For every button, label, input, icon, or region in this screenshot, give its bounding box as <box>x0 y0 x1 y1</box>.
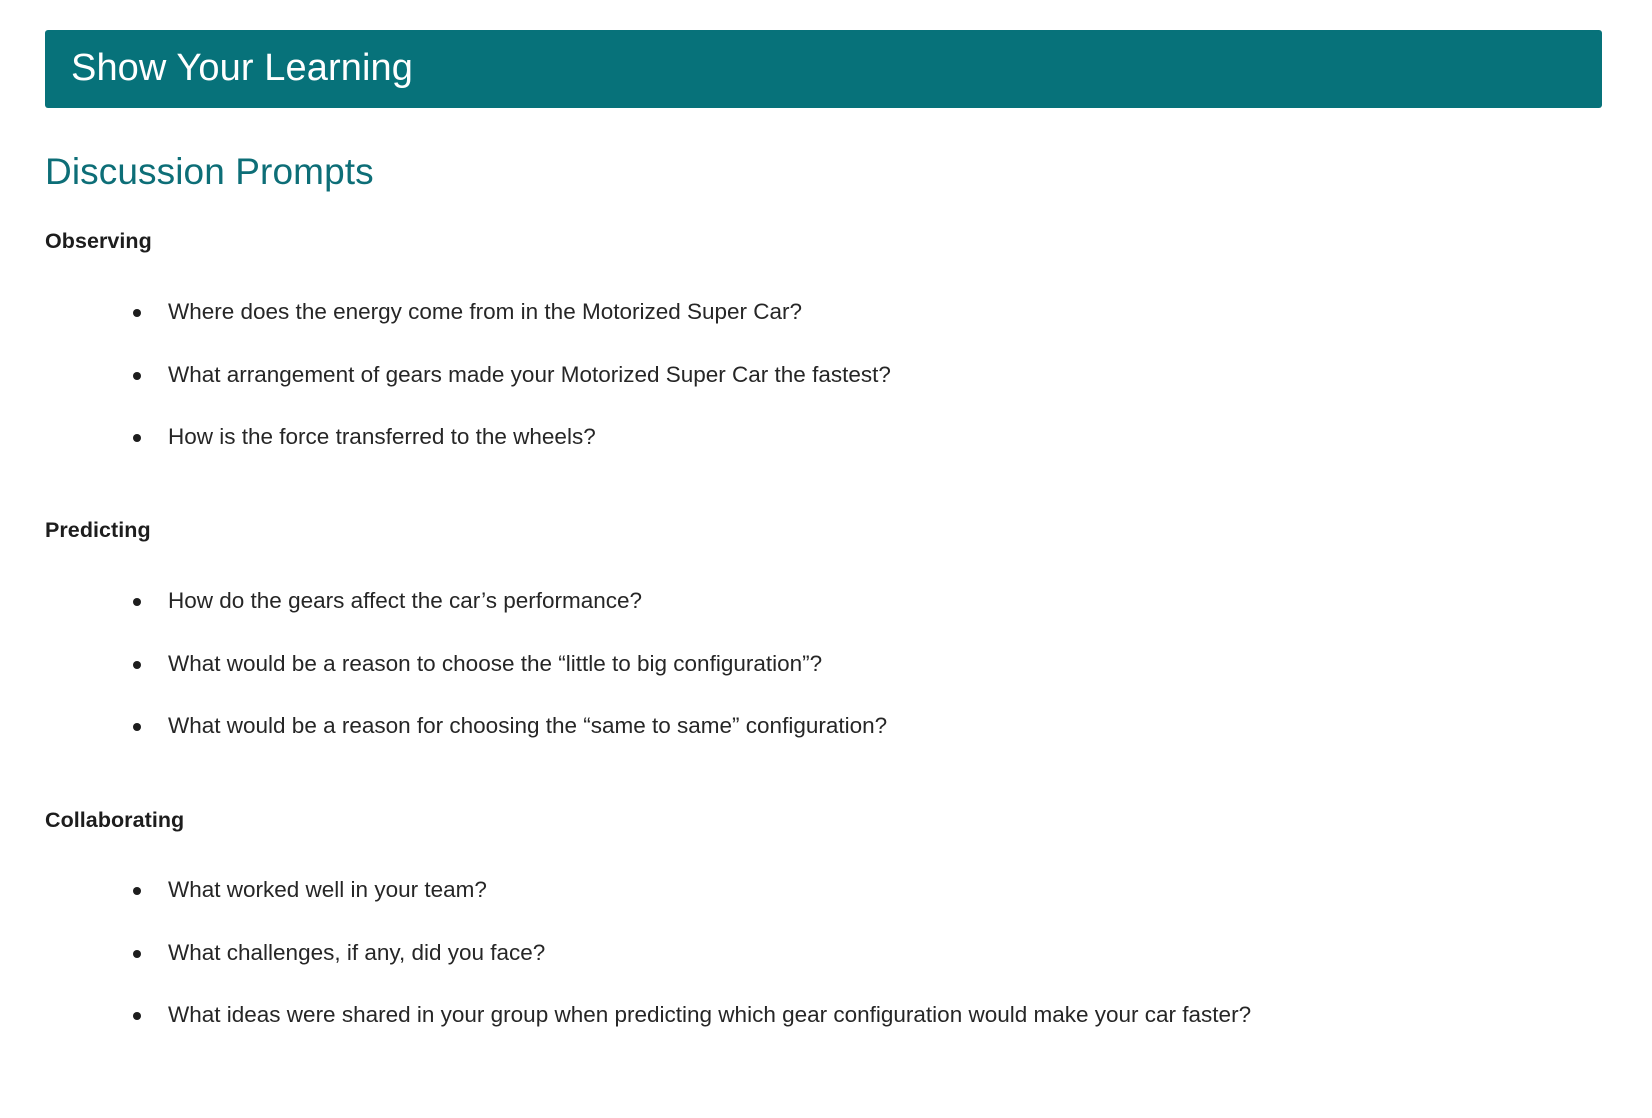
bullet-icon <box>133 434 141 442</box>
list-item-label: What would be a reason for choosing the … <box>168 713 887 738</box>
prompt-list-observing: Where does the energy come from in the M… <box>45 297 1605 452</box>
bullet-icon <box>133 661 141 669</box>
bullet-icon <box>133 950 141 958</box>
prompt-list-predicting: How do the gears affect the car’s perfor… <box>45 586 1605 741</box>
list-item: How is the force transferred to the whee… <box>45 422 1605 452</box>
list-item-label: What worked well in your team? <box>168 877 487 902</box>
list-item: How do the gears affect the car’s perfor… <box>45 586 1605 616</box>
list-item-label: Where does the energy come from in the M… <box>168 299 802 324</box>
list-item-label: What challenges, if any, did you face? <box>168 940 545 965</box>
bullet-icon <box>133 723 141 731</box>
list-item-label: How do the gears affect the car’s perfor… <box>168 588 642 613</box>
list-item-label: What arrangement of gears made your Moto… <box>168 362 891 387</box>
page-title: Show Your Learning <box>71 48 413 90</box>
group-heading-predicting: Predicting <box>45 517 1605 545</box>
list-item: What would be a reason for choosing the … <box>45 711 1605 741</box>
prompt-group-collaborating: Collaborating What worked well in your t… <box>45 807 1605 1031</box>
list-item: What would be a reason to choose the “li… <box>45 649 1605 679</box>
page-root: Show Your Learning Discussion Prompts Ob… <box>0 0 1652 1118</box>
list-item: What ideas were shared in your group whe… <box>45 1000 1605 1030</box>
bullet-icon <box>133 309 141 317</box>
bullet-icon <box>133 598 141 606</box>
list-item-label: What would be a reason to choose the “li… <box>168 651 822 676</box>
bullet-icon <box>133 372 141 380</box>
group-heading-observing: Observing <box>45 228 1605 256</box>
page-header-banner: Show Your Learning <box>45 30 1602 108</box>
list-item-label: What ideas were shared in your group whe… <box>168 1002 1251 1027</box>
bullet-icon <box>133 1012 141 1020</box>
list-item: What worked well in your team? <box>45 875 1605 905</box>
list-item: What arrangement of gears made your Moto… <box>45 360 1605 390</box>
main-content: Discussion Prompts Observing Where does … <box>45 150 1605 1031</box>
prompt-group-predicting: Predicting How do the gears affect the c… <box>45 517 1605 741</box>
section-title-discussion-prompts: Discussion Prompts <box>45 150 1605 194</box>
bullet-icon <box>133 887 141 895</box>
list-item: Where does the energy come from in the M… <box>45 297 1605 327</box>
prompt-group-observing: Observing Where does the energy come fro… <box>45 228 1605 452</box>
group-heading-collaborating: Collaborating <box>45 807 1605 835</box>
list-item: What challenges, if any, did you face? <box>45 938 1605 968</box>
list-item-label: How is the force transferred to the whee… <box>168 424 596 449</box>
prompt-list-collaborating: What worked well in your team? What chal… <box>45 875 1605 1030</box>
